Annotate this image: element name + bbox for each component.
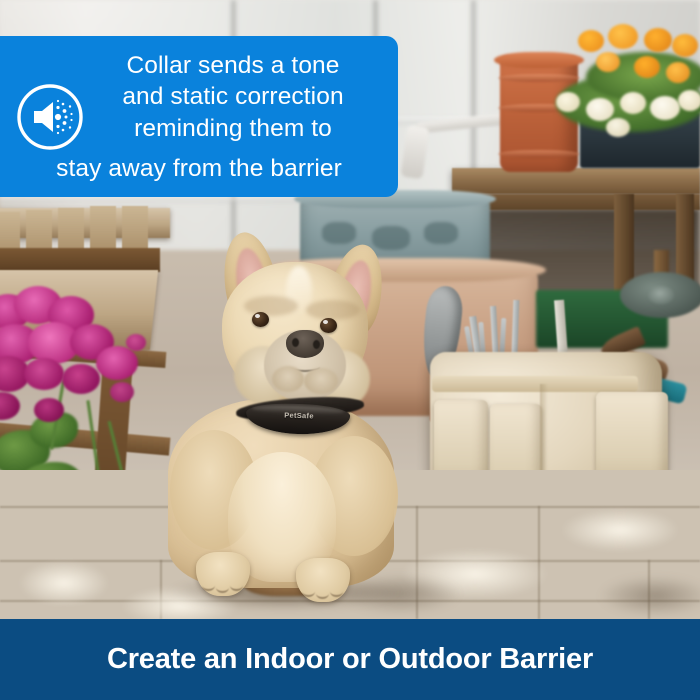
- callout-line-4: stay away from the barrier: [0, 154, 398, 185]
- dog-eye-glint-right: [323, 320, 328, 324]
- callout-line-1: Collar sends a tone: [82, 50, 384, 81]
- dog-lip-left: [272, 366, 304, 392]
- feature-callout: Collar sends a tone and static correctio…: [0, 36, 398, 197]
- banner-headline: Create an Indoor or Outdoor Barrier: [107, 643, 593, 676]
- garden-photo: Garden Mum chrysanthemum: [0, 0, 700, 619]
- product-image-stage: Garden Mum chrysanthemum: [0, 0, 700, 700]
- dog-toe: [316, 588, 329, 599]
- dog-toe: [202, 580, 215, 591]
- callout-line-2: and static correction: [82, 81, 384, 112]
- bottom-banner: Create an Indoor or Outdoor Barrier: [0, 619, 700, 700]
- dog-toe: [230, 580, 243, 591]
- callout-line-3: reminding them to: [82, 113, 384, 144]
- dog-toe: [216, 582, 229, 593]
- dog-toe: [330, 586, 343, 597]
- speaker-tone-icon: [14, 81, 86, 153]
- dog-toe: [302, 586, 315, 597]
- dog-nostril-left: [292, 338, 299, 347]
- callout-text-top: Collar sends a tone and static correctio…: [82, 50, 384, 144]
- dog-nostril-right: [313, 340, 320, 349]
- dog-eye-glint-left: [255, 314, 260, 318]
- dog-brow-fold: [244, 296, 298, 316]
- dog-brow-fold: [306, 300, 360, 320]
- dog-lip-right: [304, 368, 338, 394]
